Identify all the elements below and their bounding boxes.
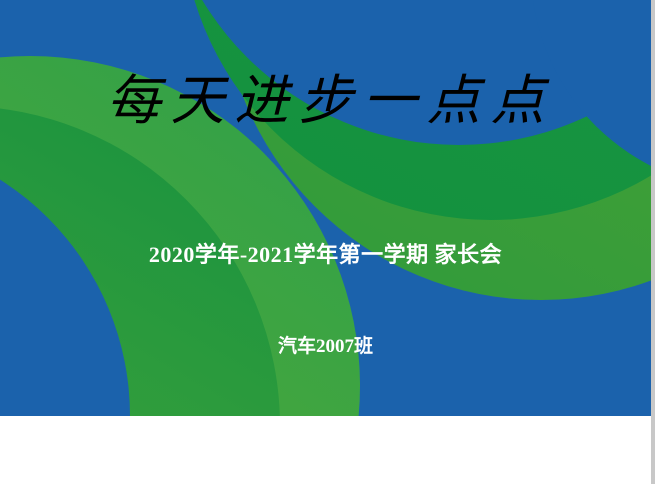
slide-subtitle: 2020学年-2021学年第一学期 家长会 [0, 240, 651, 270]
slide-class-label: 汽车2007班 [0, 334, 651, 360]
slide-title: 每天进步一点点 [0, 66, 651, 136]
presentation-slide: 每天进步一点点 2020学年-2021学年第一学期 家长会 汽车2007班 ww… [0, 0, 655, 484]
slide-footer: www.jishuedu.com [0, 416, 651, 484]
slide-canvas: 每天进步一点点 2020学年-2021学年第一学期 家长会 汽车2007班 [0, 0, 651, 416]
blue-cutout-bottom-left [0, 136, 130, 416]
